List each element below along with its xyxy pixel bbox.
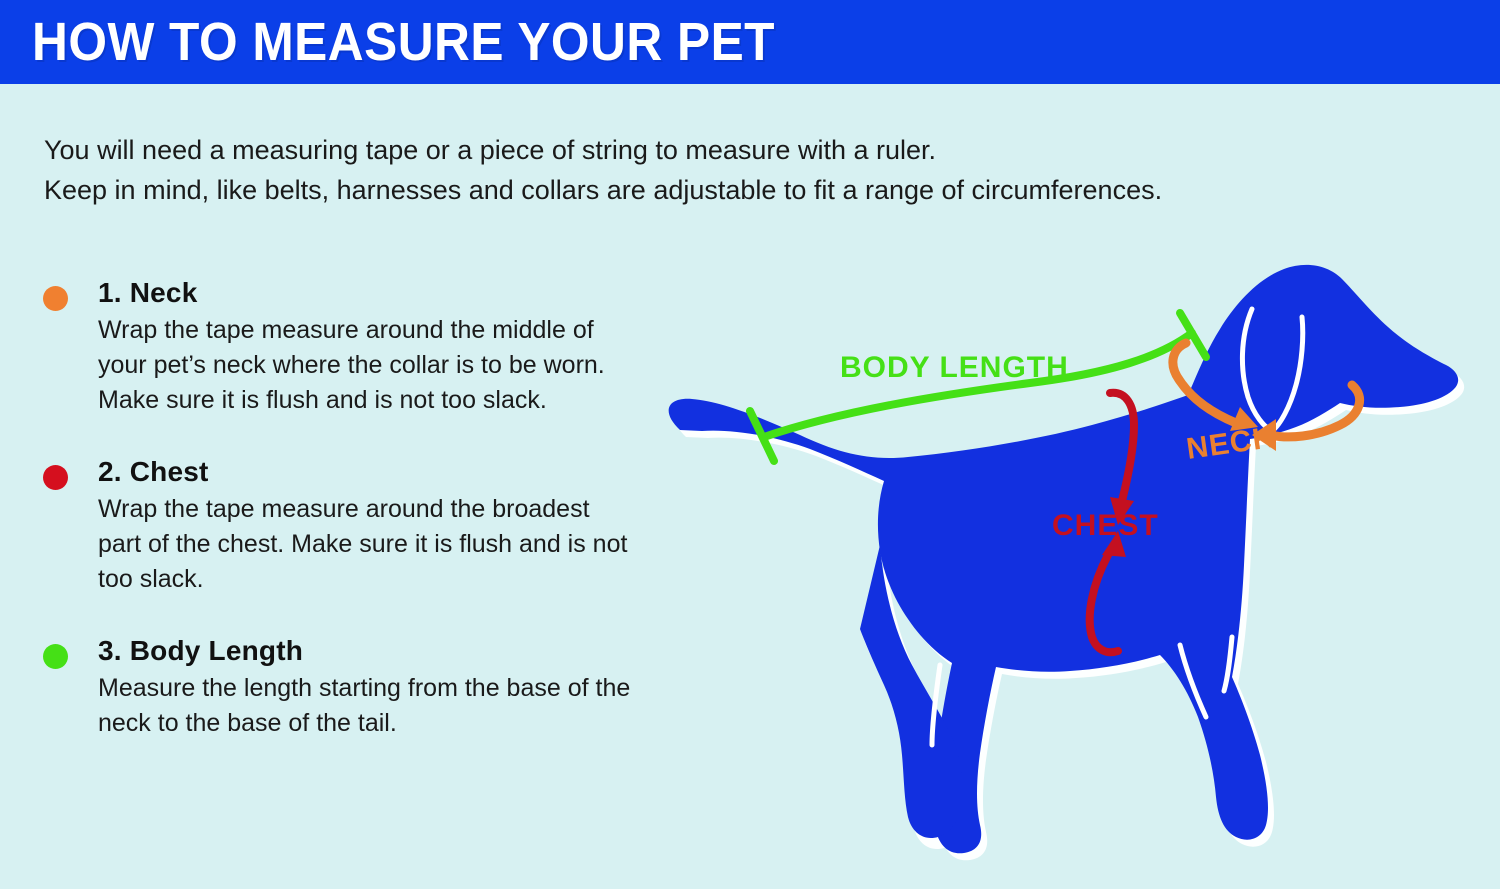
step-title-body-length: 3. Body Length (98, 633, 680, 669)
step-title-neck: 1. Neck (98, 275, 680, 311)
step-description-body-length: Measure the length starting from the bas… (98, 671, 680, 741)
step-item-body-length: 3. Body Length Measure the length starti… (40, 633, 680, 741)
dog-measurement-diagram: BODY LENGTH NECK (640, 225, 1500, 885)
step-desc-line: part of the chest. Make sure it is flush… (98, 527, 680, 562)
measurement-steps-list: 1. Neck Wrap the tape measure around the… (40, 275, 680, 777)
bullet-dot-neck (43, 286, 68, 311)
step-desc-line: Make sure it is flush and is not too sla… (98, 383, 680, 418)
step-description-chest: Wrap the tape measure around the broades… (98, 492, 680, 597)
bullet-dot-body-length (43, 644, 68, 669)
step-item-chest: 2. Chest Wrap the tape measure around th… (40, 454, 680, 597)
step-desc-line: Measure the length starting from the bas… (98, 671, 680, 706)
step-desc-line: Wrap the tape measure around the broades… (98, 492, 680, 527)
intro-line-2: Keep in mind, like belts, harnesses and … (44, 170, 1364, 210)
bullet-dot-chest (43, 465, 68, 490)
step-desc-line: too slack. (98, 562, 680, 597)
body-length-label: BODY LENGTH (840, 351, 1069, 384)
intro-line-1: You will need a measuring tape or a piec… (44, 130, 1364, 170)
page-title: HOW TO MEASURE YOUR PET (32, 12, 775, 72)
infographic-page: HOW TO MEASURE YOUR PET You will need a … (0, 0, 1500, 889)
intro-paragraph: You will need a measuring tape or a piec… (44, 130, 1364, 210)
step-item-neck: 1. Neck Wrap the tape measure around the… (40, 275, 680, 418)
step-desc-line: your pet’s neck where the collar is to b… (98, 348, 680, 383)
step-title-chest: 2. Chest (98, 454, 680, 490)
step-desc-line: Wrap the tape measure around the middle … (98, 313, 680, 348)
step-desc-line: neck to the base of the tail. (98, 706, 680, 741)
step-description-neck: Wrap the tape measure around the middle … (98, 313, 680, 418)
chest-label: CHEST (1052, 509, 1159, 542)
